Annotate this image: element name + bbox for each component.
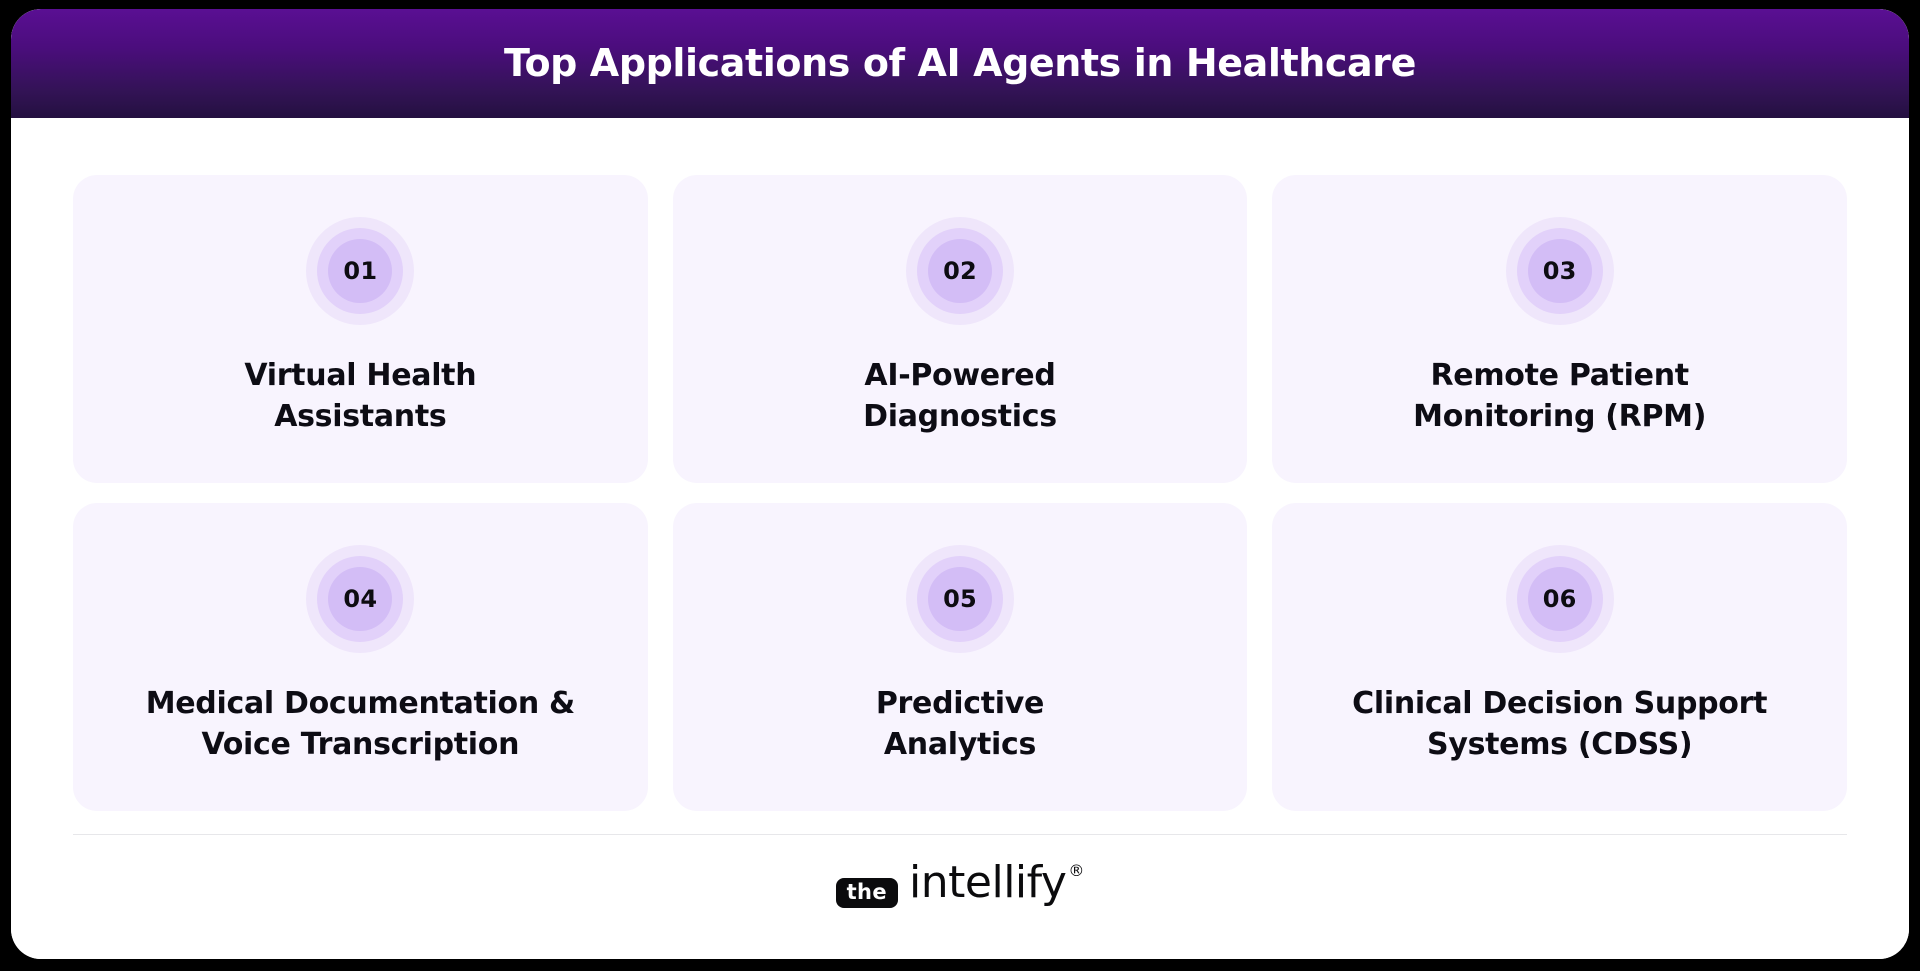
card-title: AI-Powered Diagnostics — [696, 355, 1225, 438]
number-badge: 05 — [906, 545, 1014, 653]
card-title: Clinical Decision Support Systems (CDSS) — [1295, 683, 1824, 766]
logo-wordmark: intellify ® — [909, 861, 1084, 905]
card-number: 01 — [343, 257, 377, 285]
header-banner: Top Applications of AI Agents in Healthc… — [11, 9, 1909, 118]
card-title: Predictive Analytics — [696, 683, 1225, 766]
infographic-window: Top Applications of AI Agents in Healthc… — [11, 9, 1909, 959]
number-badge: 03 — [1506, 217, 1614, 325]
registered-trademark-icon: ® — [1068, 863, 1084, 879]
application-card[interactable]: 02 AI-Powered Diagnostics — [673, 175, 1248, 483]
application-card[interactable]: 01 Virtual Health Assistants — [73, 175, 648, 483]
number-badge: 02 — [906, 217, 1014, 325]
card-title: Medical Documentation & Voice Transcript… — [96, 683, 625, 766]
logo-name-text: intellify — [909, 861, 1066, 905]
number-badge: 04 — [306, 545, 414, 653]
logo-the-badge: the — [836, 878, 898, 908]
application-card[interactable]: 06 Clinical Decision Support Systems (CD… — [1272, 503, 1847, 811]
footer: the intellify ® — [73, 834, 1847, 934]
card-number: 05 — [943, 585, 977, 613]
page-title: Top Applications of AI Agents in Healthc… — [504, 43, 1416, 85]
main-content: 01 Virtual Health Assistants 02 AI-Power… — [11, 118, 1909, 959]
application-card[interactable]: 03 Remote Patient Monitoring (RPM) — [1272, 175, 1847, 483]
application-card[interactable]: 05 Predictive Analytics — [673, 503, 1248, 811]
number-badge: 06 — [1506, 545, 1614, 653]
card-number: 02 — [943, 257, 977, 285]
card-number: 06 — [1543, 585, 1577, 613]
card-title: Virtual Health Assistants — [96, 355, 625, 438]
screenshot-frame: Top Applications of AI Agents in Healthc… — [0, 0, 1920, 971]
applications-grid: 01 Virtual Health Assistants 02 AI-Power… — [73, 175, 1847, 811]
card-number: 03 — [1543, 257, 1577, 285]
number-badge: 01 — [306, 217, 414, 325]
brand-logo[interactable]: the intellify ® — [836, 861, 1085, 908]
application-card[interactable]: 04 Medical Documentation & Voice Transcr… — [73, 503, 648, 811]
card-title: Remote Patient Monitoring (RPM) — [1295, 355, 1824, 438]
card-number: 04 — [343, 585, 377, 613]
